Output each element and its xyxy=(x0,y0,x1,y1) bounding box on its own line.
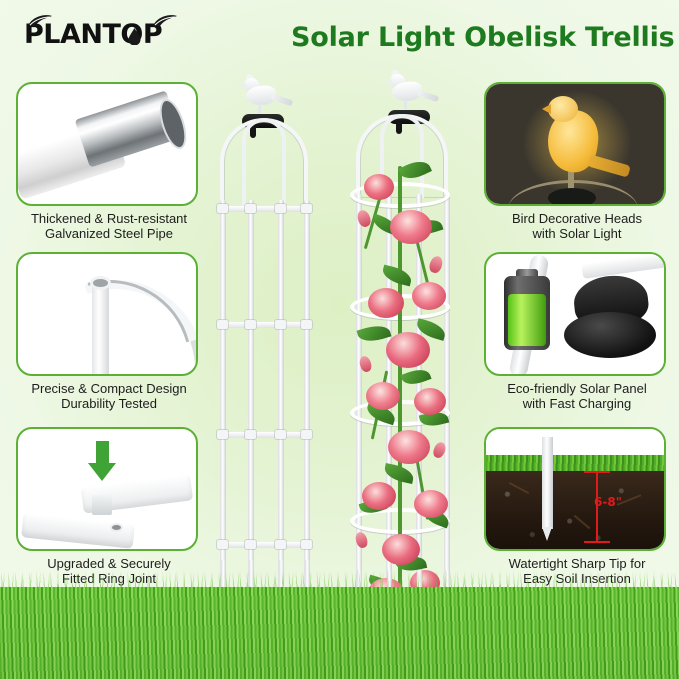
feature-image-box xyxy=(484,252,666,376)
brand-name: PLANTOP xyxy=(24,19,162,50)
rose-bloom xyxy=(412,282,446,310)
down-arrow-icon xyxy=(96,441,109,465)
caption-line-1: Upgraded & Securely xyxy=(16,556,202,571)
white-bird-topper-icon xyxy=(384,74,436,108)
product-images xyxy=(190,70,490,630)
rose-bloom xyxy=(366,382,400,410)
ring-bar xyxy=(218,542,310,548)
steel-pipe-icon xyxy=(18,84,196,204)
feature-image-box xyxy=(16,252,198,376)
white-bird-topper-icon xyxy=(238,78,290,112)
feature-watertight-sharp-tip[interactable]: 6-8" Watertight Sharp Tip for Easy Soil … xyxy=(484,427,670,586)
feature-caption: Thickened & Rust-resistant Galvanized St… xyxy=(16,211,202,241)
dome-inner xyxy=(242,118,286,208)
feature-image-box: 6-8" xyxy=(484,427,666,551)
rose-bloom xyxy=(414,490,448,518)
brand-logo: PLANTOP xyxy=(24,21,162,48)
caption-line-1: Eco-friendly Solar Panel xyxy=(484,381,670,396)
caption-line-1: Watertight Sharp Tip for xyxy=(484,556,670,571)
rose-bloom xyxy=(368,288,404,318)
feature-image-box xyxy=(484,82,666,206)
feature-image-box xyxy=(16,82,198,206)
feature-caption: Eco-friendly Solar Panel with Fast Charg… xyxy=(484,381,670,411)
caption-line-1: Thickened & Rust-resistant xyxy=(16,211,202,226)
rose-bloom xyxy=(414,388,446,415)
caption-line-1: Bird Decorative Heads xyxy=(484,211,670,226)
ring-bar xyxy=(218,432,310,438)
right-obelisk-trellis-with-roses[interactable] xyxy=(338,70,488,630)
caption-line-2: Galvanized Steel Pipe xyxy=(16,226,202,241)
droplet-icon xyxy=(128,28,141,45)
feature-caption: Precise & Compact Design Durability Test… xyxy=(16,381,202,411)
rose-bloom xyxy=(364,174,394,200)
left-obelisk-trellis[interactable] xyxy=(190,70,340,630)
infographic-page: PLANTOP Solar Light Obelisk Trellis Thic… xyxy=(0,0,679,679)
grass-foreground xyxy=(0,587,679,679)
post xyxy=(220,200,226,590)
feature-caption: Bird Decorative Heads with Solar Light xyxy=(484,211,670,241)
caption-line-2: with Solar Light xyxy=(484,226,670,241)
feature-precise-compact-design[interactable]: Precise & Compact Design Durability Test… xyxy=(16,252,202,411)
header: PLANTOP Solar Light Obelisk Trellis xyxy=(0,0,679,68)
caption-line-1: Precise & Compact Design xyxy=(16,381,202,396)
feature-image-box xyxy=(16,427,198,551)
feature-ring-joint[interactable]: Upgraded & Securely Fitted Ring Joint xyxy=(16,427,202,586)
glowing-bird-icon xyxy=(486,84,664,204)
depth-measurement-label: 6-8" xyxy=(578,495,638,509)
rose-bloom xyxy=(388,430,430,464)
rose-bloom xyxy=(390,210,432,244)
rose-bloom xyxy=(362,482,396,510)
page-title: Solar Light Obelisk Trellis xyxy=(291,22,671,53)
feature-bird-solar-light[interactable]: Bird Decorative Heads with Solar Light xyxy=(484,82,670,241)
rose-bloom xyxy=(386,332,430,368)
post xyxy=(248,200,254,590)
ring-bar xyxy=(218,322,310,328)
post xyxy=(304,200,310,590)
feature-galvanized-steel-pipe[interactable]: Thickened & Rust-resistant Galvanized St… xyxy=(16,82,202,241)
post xyxy=(278,200,284,590)
ring-bar xyxy=(218,206,310,212)
caption-line-2: Durability Tested xyxy=(16,396,202,411)
rose-bloom xyxy=(382,534,420,565)
feature-solar-panel-charging[interactable]: Eco-friendly Solar Panel with Fast Charg… xyxy=(484,252,670,411)
caption-line-2: with Fast Charging xyxy=(484,396,670,411)
